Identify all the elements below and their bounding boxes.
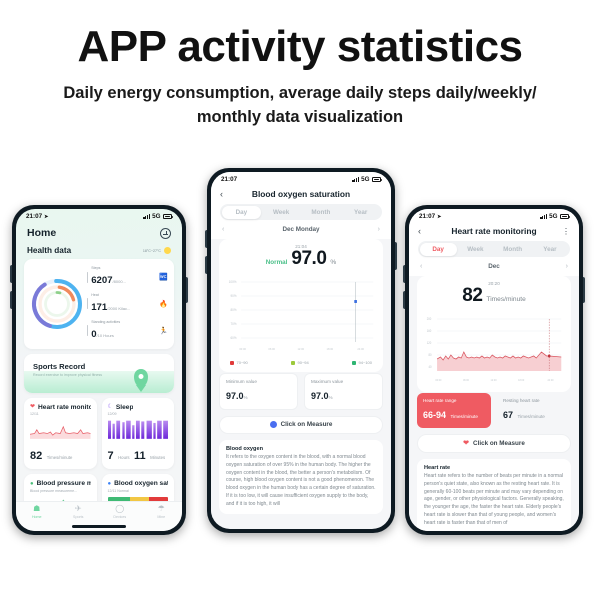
heart-rate-unit: Times/minute xyxy=(486,296,525,303)
page-title: Blood oxygen saturation xyxy=(232,189,370,199)
date-navigator: ‹ Dec › xyxy=(409,257,579,272)
stat-unit: /8000... xyxy=(113,279,126,284)
segment-day[interactable]: Day xyxy=(222,206,262,219)
segment-month[interactable]: Month xyxy=(494,243,531,256)
article-heading: Blood oxygen xyxy=(226,446,376,452)
tab-sports[interactable]: ✈ Sports xyxy=(58,505,100,519)
svg-text:00:00: 00:00 xyxy=(239,347,246,351)
sleep-bar-chart xyxy=(108,418,169,440)
map-pin-icon xyxy=(134,369,148,387)
legend-label: 94~100 xyxy=(359,360,372,365)
status-time: 21:07 xyxy=(221,176,237,183)
spo2-unit: % xyxy=(330,259,336,266)
measure-button-label: Click on Measure xyxy=(473,440,525,447)
page-title: APP activity statistics xyxy=(0,24,600,70)
page-subtitle: Daily energy consumption, average daily … xyxy=(0,82,600,130)
circle-icon: ● xyxy=(108,481,112,487)
tile-value: 82 xyxy=(30,450,42,462)
stat-value: 171 xyxy=(91,302,107,313)
prev-day-button[interactable]: ‹ xyxy=(222,226,224,233)
screen-top: ‹ Blood oxygen saturation Day Week Month… xyxy=(211,185,391,239)
route-wave-graphic xyxy=(24,371,174,393)
network-label: 5G xyxy=(361,176,369,183)
home-indicator xyxy=(72,525,126,527)
heart-rate-value: 82 xyxy=(462,285,482,307)
stat-label: Steps xyxy=(91,266,159,270)
network-label: 5G xyxy=(152,213,160,220)
blue-dot-icon xyxy=(270,421,277,428)
legend-swatch xyxy=(352,361,356,365)
legend-label: 70~90 xyxy=(237,360,248,365)
tile-unit: Times/minute xyxy=(47,455,73,460)
heart-rate-chart-svg: 200160 1208040 00:0006:00 12:0018:0024:0… xyxy=(425,311,563,389)
segment-year[interactable]: Year xyxy=(341,206,381,219)
health-summary-card[interactable]: Steps 6207/8000... 🚾 Heat 171/2000 Kilac… xyxy=(24,259,174,349)
stat-label: Heat xyxy=(91,293,159,297)
svg-text:24:00: 24:00 xyxy=(547,378,554,382)
next-day-button[interactable]: › xyxy=(566,263,568,270)
heart-rate-reading-card: 20:20 82 Times/minute xyxy=(417,276,571,392)
person-icon: ☂ xyxy=(141,505,183,513)
minimum-value-card: Minimum value 97.0% xyxy=(219,373,298,409)
spo2-summary-cards: Minimum value 97.0% Maximum value 97.0% xyxy=(219,373,383,409)
legend-item-low: 70~90 xyxy=(230,360,248,365)
measure-button[interactable]: ❤ Click on Measure xyxy=(417,434,571,453)
bottom-tab-bar: ☗ Home ✈ Sports ◯ Devices ☂ Mine xyxy=(16,501,182,531)
home-icon: ☗ xyxy=(16,505,58,513)
home-nav-bar: Home xyxy=(16,222,182,241)
card-value: 66-94 xyxy=(423,410,446,420)
status-time: 21:07 xyxy=(26,213,42,220)
current-date: Dec Monday xyxy=(282,226,319,233)
article-body: Heart rate refers to the number of beats… xyxy=(424,473,564,527)
phone-right-heart-rate: 21:07 ➤ 5G ‹ Heart rate monitoring ⋮ Day… xyxy=(405,205,583,535)
card-value: 97.0 xyxy=(226,391,244,401)
battery-icon xyxy=(163,214,172,219)
date-navigator: ‹ Dec Monday › xyxy=(211,220,391,235)
legend-label: 90~94 xyxy=(298,360,309,365)
period-segmented-control[interactable]: Day Week Month Year xyxy=(220,204,382,220)
blood-oxygen-article: Blood oxygen It refers to the oxygen con… xyxy=(219,440,383,515)
tile-title: Sleep xyxy=(116,404,134,411)
stat-unit: /2000 Kilac... xyxy=(107,306,130,311)
tab-label: Devices xyxy=(99,515,141,519)
droplet-icon: ● xyxy=(30,481,34,487)
card-value: 67 xyxy=(503,410,513,420)
signal-icon xyxy=(352,177,358,182)
prev-day-button[interactable]: ‹ xyxy=(420,263,422,270)
svg-text:18:00: 18:00 xyxy=(518,378,525,382)
stat-unit: /10 Hours xyxy=(97,333,114,338)
status-badge: Normal xyxy=(266,259,288,266)
svg-text:80: 80 xyxy=(428,353,431,357)
svg-text:12:00: 12:00 xyxy=(297,347,304,351)
measure-button-label: Click on Measure xyxy=(281,421,333,428)
tile-title: Blood pressure mor xyxy=(37,480,91,487)
tile-title: Blood oxygen satur. xyxy=(114,480,168,487)
location-arrow-icon: ➤ xyxy=(437,214,441,220)
heart-rate-chart[interactable]: 200160 1208040 00:0006:00 12:0018:0024:0… xyxy=(425,311,563,389)
sports-icon: ✈ xyxy=(58,505,100,513)
tile-date: 12/09 xyxy=(108,412,169,416)
phone-left-home: 21:07 ➤ 5G Home Health data 18°C~27°C xyxy=(12,205,186,535)
activity-rings-chart xyxy=(30,277,84,331)
tile-title: Heart rate monitori xyxy=(38,404,90,411)
tile-date: 12/11 Normal xyxy=(108,489,169,493)
stat-standing: Standing activities 0/10 Hours 🏃 xyxy=(87,320,168,342)
rings-svg xyxy=(30,277,84,331)
sun-icon xyxy=(164,247,171,254)
location-arrow-icon: ➤ xyxy=(44,214,48,220)
svg-text:06:00: 06:00 xyxy=(463,378,470,382)
page-title: Heart rate monitoring xyxy=(430,226,558,236)
svg-text:80%: 80% xyxy=(231,308,237,312)
svg-text:60%: 60% xyxy=(231,336,237,340)
home-title: Home xyxy=(27,227,56,239)
legend-item-high: 94~100 xyxy=(352,360,372,365)
next-day-button[interactable]: › xyxy=(378,226,380,233)
stat-value: 6207 xyxy=(91,275,112,286)
accent-bar xyxy=(87,298,88,309)
status-bar: 21:07 ➤ 5G xyxy=(16,209,182,222)
signal-icon xyxy=(143,214,149,219)
svg-text:200: 200 xyxy=(427,317,432,321)
svg-text:24:00: 24:00 xyxy=(357,347,364,351)
devices-icon: ◯ xyxy=(99,505,141,513)
card-unit: Times/minute xyxy=(450,414,477,419)
spo2-legend: 70~90 90~94 94~100 xyxy=(219,356,383,369)
svg-text:70%: 70% xyxy=(231,322,237,326)
tile-sleep[interactable]: ☾ Sleep 12/09 xyxy=(102,398,175,470)
tile-unit-2: Minutes xyxy=(150,455,165,460)
status-time: 21:07 xyxy=(419,213,435,220)
svg-text:18:00: 18:00 xyxy=(327,347,334,351)
tile-heart-rate[interactable]: ❤ Heart rate monitori 12/11 82 Times/min… xyxy=(24,398,97,470)
spo2-reading-card: 21:04 Normal 97.0 % xyxy=(219,239,383,372)
health-data-header: Health data 18°C~27°C xyxy=(16,241,182,259)
moon-icon: ☾ xyxy=(108,404,113,410)
segment-week[interactable]: Week xyxy=(261,206,301,219)
svg-text:90%: 90% xyxy=(231,294,237,298)
svg-text:06:00: 06:00 xyxy=(268,347,275,351)
flame-icon: 🔥 xyxy=(159,300,168,308)
card-unit: % xyxy=(244,395,248,400)
segment-month[interactable]: Month xyxy=(301,206,341,219)
legend-item-mid: 90~94 xyxy=(291,360,309,365)
accent-bar xyxy=(87,325,88,336)
period-segmented-control[interactable]: Day Week Month Year xyxy=(418,241,570,257)
heart-rate-sparkline xyxy=(30,418,91,440)
legend-swatch xyxy=(230,361,234,365)
svg-text:40: 40 xyxy=(428,365,431,369)
heart-rate-range-card: Heart rate range 66-94 Times/minute xyxy=(417,393,491,427)
health-data-title: Health data xyxy=(27,246,71,255)
maximum-value-card: Maximum value 97.0% xyxy=(304,373,383,409)
tab-mine[interactable]: ☂ Mine xyxy=(141,505,183,519)
page-header: APP activity statistics Daily energy con… xyxy=(0,0,600,130)
heart-icon: ❤ xyxy=(30,404,35,410)
health-stats-list: Steps 6207/8000... 🚾 Heat 171/2000 Kilac… xyxy=(84,266,168,342)
spo2-chart[interactable]: 100%90% 80%70% 60% 00:0006:00 12:0018:00… xyxy=(227,274,375,356)
segment-week[interactable]: Week xyxy=(457,243,494,256)
svg-text:160: 160 xyxy=(427,329,432,333)
tab-label: Mine xyxy=(141,515,183,519)
plus-circle-icon[interactable] xyxy=(160,228,171,239)
status-bar: 21:07 ➤ 5G xyxy=(409,209,579,222)
svg-text:00:00: 00:00 xyxy=(435,378,442,382)
weather-temp: 18°C~27°C xyxy=(143,249,161,253)
heart-rate-summary-cards: Heart rate range 66-94 Times/minute Rest… xyxy=(417,393,571,427)
screen-top: ‹ Heart rate monitoring ⋮ Day Week Month… xyxy=(409,222,579,276)
tab-home[interactable]: ☗ Home xyxy=(16,505,58,519)
sports-record-card[interactable]: Sports Record Record exercise to improve… xyxy=(24,354,174,393)
svg-text:100%: 100% xyxy=(229,280,237,284)
network-label: 5G xyxy=(549,213,557,220)
stat-label: Standing activities xyxy=(91,320,159,324)
measure-button[interactable]: Click on Measure xyxy=(219,416,383,434)
segment-day[interactable]: Day xyxy=(420,243,457,256)
spo2-chart-svg: 100%90% 80%70% 60% 00:0006:00 12:0018:00… xyxy=(227,274,375,356)
legend-swatch xyxy=(291,361,295,365)
battery-icon xyxy=(560,214,569,219)
heart-icon: ❤ xyxy=(463,439,469,447)
kebab-menu-icon[interactable]: ⋮ xyxy=(558,227,570,236)
tile-unit: Hours xyxy=(118,455,129,460)
resting-heart-rate-card: Resting heart rate 67 Times/minute xyxy=(497,393,571,427)
nav-bar: ‹ Blood oxygen saturation xyxy=(211,185,391,204)
chevron-left-icon[interactable]: ‹ xyxy=(418,226,430,236)
article-body: It refers to the oxygen content in the b… xyxy=(226,454,376,508)
weather-indicator: 18°C~27°C xyxy=(143,247,171,254)
accent-bar xyxy=(87,272,88,283)
chevron-left-icon[interactable]: ‹ xyxy=(220,189,232,199)
tab-label: Sports xyxy=(58,515,100,519)
tile-value-2: 11 xyxy=(134,450,146,462)
nav-bar: ‹ Heart rate monitoring ⋮ xyxy=(409,222,579,241)
stat-steps: Steps 6207/8000... 🚾 xyxy=(87,266,168,288)
tile-date: Blood pressure measureme... xyxy=(30,489,91,493)
spo2-value: 97.0 xyxy=(291,248,326,270)
segment-year[interactable]: Year xyxy=(531,243,568,256)
phone-mid-blood-oxygen: 21:07 5G ‹ Blood oxygen saturation Day W… xyxy=(207,168,395,533)
status-bar: 21:07 5G xyxy=(211,172,391,185)
current-date: Dec xyxy=(488,263,500,270)
heart-rate-article: Heart rate Heart rate refers to the numb… xyxy=(417,459,571,531)
battery-icon xyxy=(372,177,381,182)
tile-row-1: ❤ Heart rate monitori 12/11 82 Times/min… xyxy=(24,398,174,470)
card-value: 97.0 xyxy=(311,391,329,401)
stat-heat: Heat 171/2000 Kilac... 🔥 xyxy=(87,293,168,315)
card-unit: % xyxy=(329,395,333,400)
card-unit: Times/minute xyxy=(517,414,544,419)
tab-label: Home xyxy=(16,515,58,519)
tab-devices[interactable]: ◯ Devices xyxy=(99,505,141,519)
svg-text:12:00: 12:00 xyxy=(491,378,498,382)
tile-date: 12/11 xyxy=(30,412,91,416)
tile-value: 7 xyxy=(108,450,114,462)
article-heading: Heart rate xyxy=(424,465,564,471)
stand-icon: 🏃 xyxy=(159,327,168,335)
shoe-icon: 🚾 xyxy=(159,273,168,281)
signal-icon xyxy=(540,214,546,219)
svg-text:120: 120 xyxy=(427,341,432,345)
